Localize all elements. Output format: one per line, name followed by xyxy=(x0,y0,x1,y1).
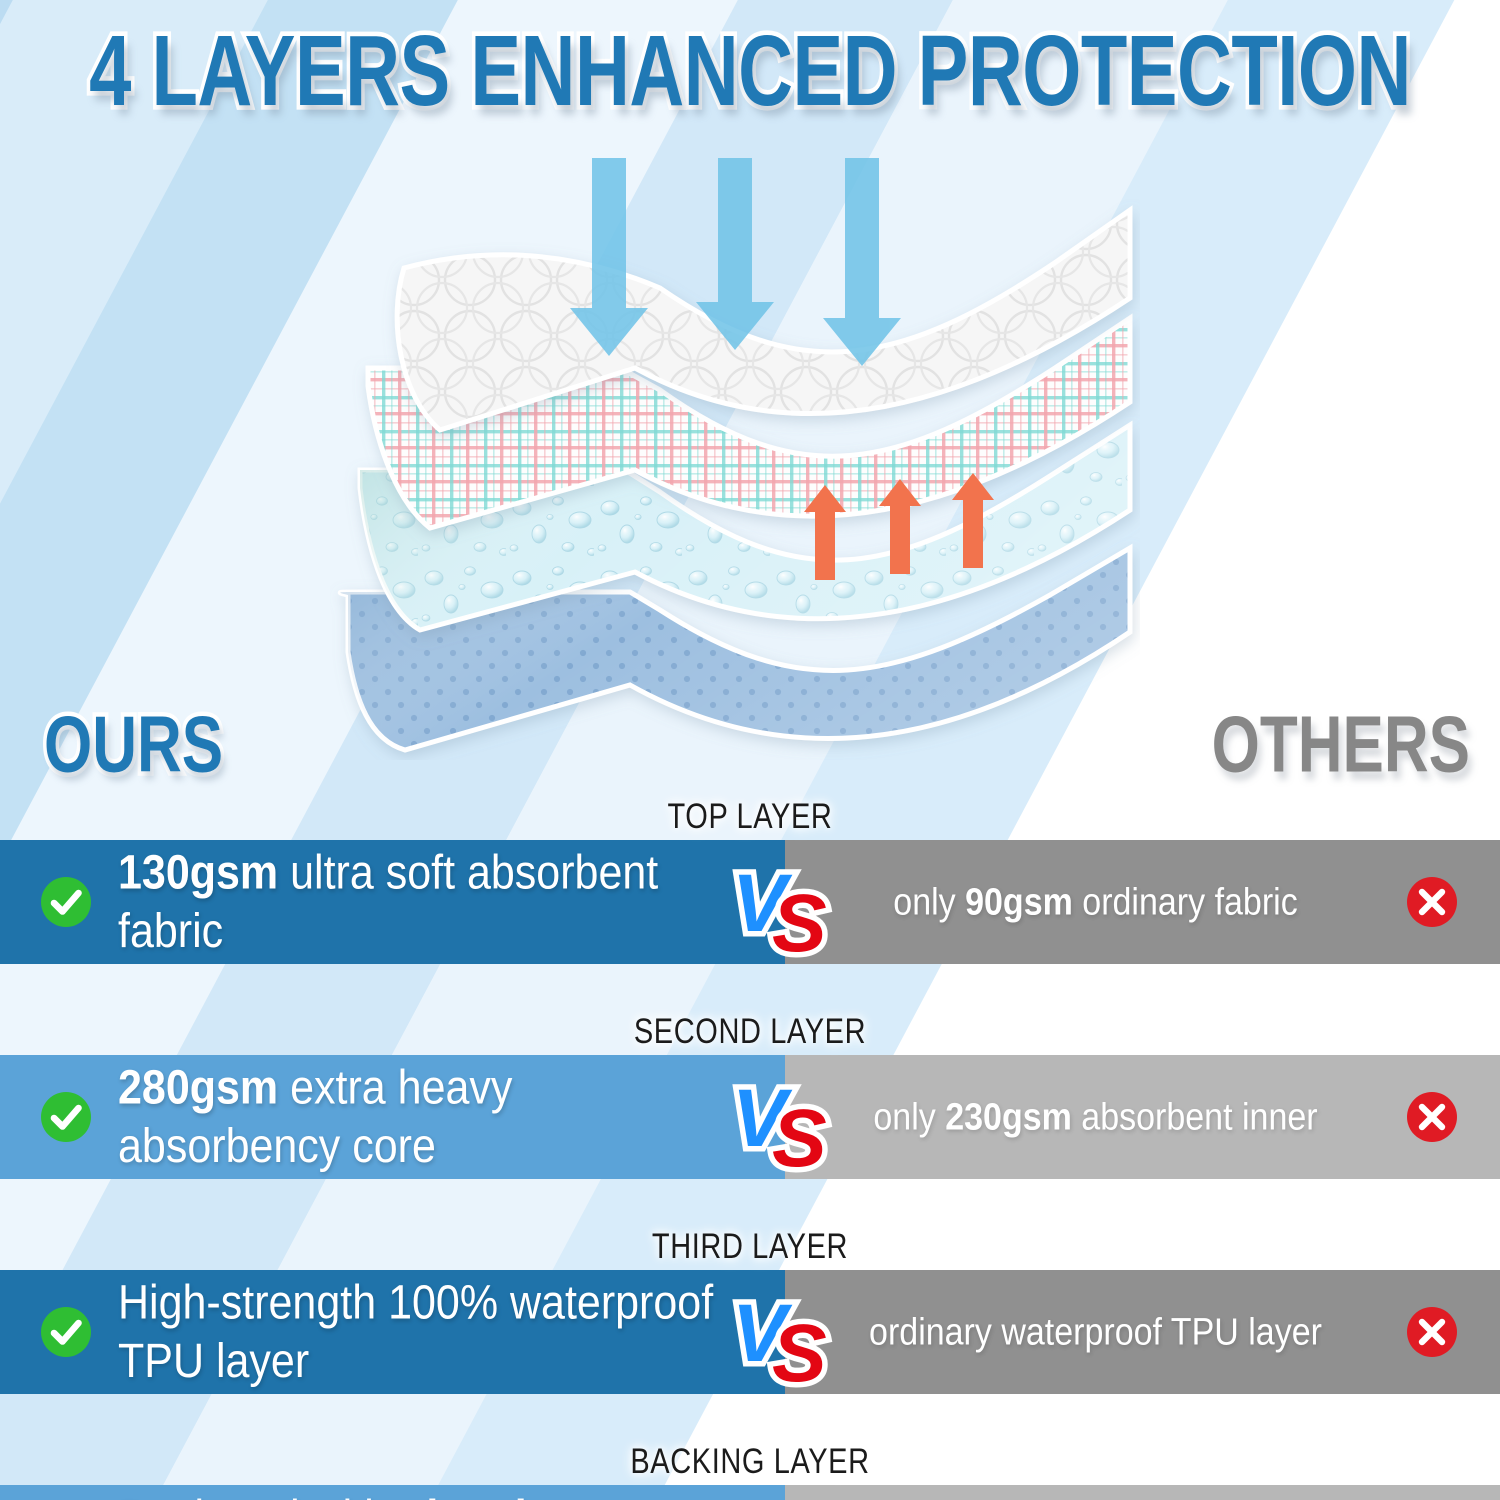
x-circle-icon xyxy=(1406,876,1458,928)
comparison-row-backing-layer: Designed with glue dots, better anti-sli… xyxy=(0,1485,1500,1500)
ours-text-backing-layer: Designed with glue dots, better anti-sli… xyxy=(118,1489,718,1500)
ours-cell-third-layer: High-strength 100% waterproof TPU layer xyxy=(0,1270,785,1394)
infographic-root: 4 LAYERS ENHANCED PROTECTION xyxy=(0,0,1500,1500)
layer-label-second: SECOND LAYER xyxy=(0,1010,1500,1055)
comparison-block-third-layer: THIRD LAYER High-strength 100% waterproo… xyxy=(0,1225,1500,1394)
layer-label-top-text: TOP LAYER xyxy=(668,795,833,838)
ours-text-backing-layer-bold: glue dots, xyxy=(400,1491,603,1500)
ours-text-third-layer-rest: High-strength 100% waterproof TPU layer xyxy=(118,1276,713,1388)
comparison-table: TOP LAYER 130gsm ultra soft absorbent fa… xyxy=(0,795,1500,1500)
others-text-top-layer: only 90gsm ordinary fabric xyxy=(785,878,1406,925)
ours-text-second-layer: 280gsm extra heavy absorbency core xyxy=(118,1059,718,1175)
liquid-absorption-down-arrows xyxy=(570,158,901,366)
others-text-top-layer-prefix: only xyxy=(893,881,965,924)
check-circle-icon xyxy=(40,1091,92,1143)
others-cell-top-layer: only 90gsm ordinary fabric xyxy=(785,840,1500,964)
layer-label-third-text: THIRD LAYER xyxy=(652,1225,848,1268)
layer-label-top: TOP LAYER xyxy=(0,795,1500,840)
others-text-second-layer: only 230gsm absorbent inner xyxy=(785,1093,1406,1140)
layer-label-backing-text: BACKING LAYER xyxy=(630,1440,869,1483)
layer-label-second-text: SECOND LAYER xyxy=(634,1010,866,1053)
layer-label-backing: BACKING LAYER xyxy=(0,1440,1500,1485)
row-gap-2 xyxy=(0,1179,1500,1225)
check-circle-icon xyxy=(40,1306,92,1358)
ours-cell-top-layer: 130gsm ultra soft absorbent fabric xyxy=(0,840,785,964)
others-text-second-layer-prefix: only xyxy=(873,1096,945,1139)
ours-cell-backing-layer: Designed with glue dots, better anti-sli… xyxy=(0,1485,785,1500)
others-cell-second-layer: only 230gsm absorbent inner xyxy=(785,1055,1500,1179)
ours-text-top-layer-bold: 130gsm xyxy=(118,846,278,900)
four-layer-illustration xyxy=(330,140,1140,760)
others-text-top-layer-bold: 90gsm xyxy=(965,881,1073,924)
ours-cell-second-layer: 280gsm extra heavy absorbency core xyxy=(0,1055,785,1179)
comparison-row-top-layer: 130gsm ultra soft absorbent fabric only … xyxy=(0,840,1500,964)
others-text-second-layer-rest: absorbent inner xyxy=(1072,1096,1318,1139)
others-text-third-layer: ordinary waterproof TPU layer xyxy=(785,1308,1406,1355)
ours-text-top-layer: 130gsm ultra soft absorbent fabric xyxy=(118,844,718,960)
comparison-block-second-layer: SECOND LAYER 280gsm extra heavy absorben… xyxy=(0,1010,1500,1179)
column-heading-ours: OURS xyxy=(44,700,223,791)
title-container: 4 LAYERS ENHANCED PROTECTION xyxy=(0,14,1500,101)
page-title: 4 LAYERS ENHANCED PROTECTION xyxy=(89,14,1411,129)
others-text-top-layer-rest: ordinary fabric xyxy=(1073,881,1298,924)
x-circle-icon xyxy=(1406,1306,1458,1358)
row-gap-1 xyxy=(0,964,1500,1010)
row-gap-3 xyxy=(0,1394,1500,1440)
x-circle-icon xyxy=(1406,1091,1458,1143)
comparison-row-third-layer: High-strength 100% waterproof TPU layer … xyxy=(0,1270,1500,1394)
layer-label-third: THIRD LAYER xyxy=(0,1225,1500,1270)
others-cell-third-layer: ordinary waterproof TPU layer xyxy=(785,1270,1500,1394)
others-text-second-layer-bold: 230gsm xyxy=(945,1096,1072,1139)
column-heading-others: OTHERS xyxy=(1212,700,1470,791)
others-cell-backing-layer: only bottom fabric xyxy=(785,1485,1500,1500)
others-text-third-layer-rest: ordinary waterproof TPU layer xyxy=(869,1311,1322,1354)
comparison-row-second-layer: 280gsm extra heavy absorbency core only … xyxy=(0,1055,1500,1179)
ours-text-third-layer: High-strength 100% waterproof TPU layer xyxy=(118,1274,718,1390)
ours-text-backing-layer-rest: Designed with xyxy=(118,1491,400,1500)
comparison-block-top-layer: TOP LAYER 130gsm ultra soft absorbent fa… xyxy=(0,795,1500,964)
comparison-block-backing-layer: BACKING LAYER Designed with glue dots, b… xyxy=(0,1440,1500,1500)
ours-text-second-layer-bold: 280gsm xyxy=(118,1061,278,1115)
check-circle-icon xyxy=(40,876,92,928)
